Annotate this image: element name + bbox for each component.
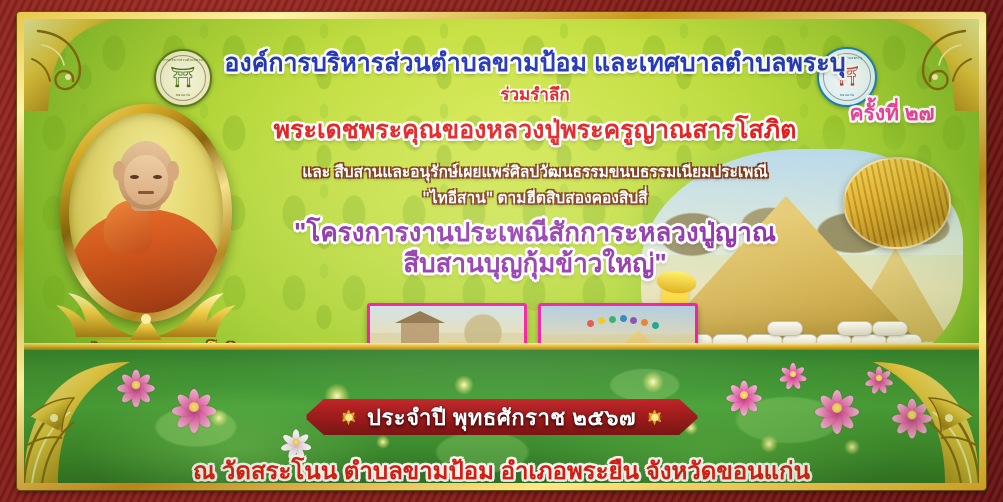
photo-hut	[401, 322, 439, 346]
lotus-flower	[174, 387, 214, 427]
lotus-flower	[892, 395, 932, 435]
commemorate-label: ร่วมรำลึก	[210, 81, 860, 108]
lotus-band-top-rule	[24, 343, 979, 350]
year-banner-text: ประจำปี พุทธศักราช ๒๕๖๗	[367, 400, 636, 435]
honoree-line: พระเดชพระคุณของหลวงปู่พระครูญาณสารโสภิต	[210, 110, 860, 150]
monk-head	[118, 141, 174, 209]
lotus-flower	[119, 368, 153, 402]
gold-corner-ornament-top-left	[24, 19, 120, 111]
venue-line: ณ วัดสระโนน ตำบลขามป้อม อำเภอพระยืน จังห…	[24, 451, 979, 483]
monk-portrait-frame	[60, 104, 232, 322]
ornament-right-icon	[646, 409, 663, 426]
banner-panel: องค์การบริหารส่วนตำบลขามป้อม ⛩ ขอนแก่น เ…	[24, 19, 979, 483]
purpose-line-2: "ไทอีสาน" ตามฮีตสิบสองคองสิบสี่	[210, 185, 860, 210]
event-banner: องค์การบริหารส่วนตำบลขามป้อม ⛩ ขอนแก่น เ…	[0, 0, 1003, 502]
monk-portrait-photo	[69, 113, 223, 313]
ornament-left-icon	[340, 409, 357, 426]
gold-frame: องค์การบริหารส่วนตำบลขามป้อม ⛩ ขอนแก่น เ…	[17, 12, 986, 490]
headline-stack: องค์การบริหารส่วนตำบลขามป้อม และเทศบาลตำ…	[210, 49, 860, 279]
lotus-flower	[782, 363, 803, 384]
lotus-flower	[814, 385, 860, 431]
seal-khampom-sao-icon: องค์การบริหารส่วนตำบลขามป้อม ⛩ ขอนแก่น	[154, 49, 212, 107]
lotus-flower	[728, 379, 760, 411]
year-banner: ประจำปี พุทธศักราช ๒๕๖๗	[304, 397, 699, 437]
monk-face	[124, 155, 168, 205]
purpose-line-1: และ สืบสานและอนุรักษ์เผยแพร่ศิลปวัฒนธรรม…	[210, 159, 860, 184]
project-title-line-1: "โครงการงานประเพณีสักการะหลวงปู่ญาณ	[210, 217, 860, 248]
edition-badge: ครั้งที่ ๒๗	[817, 97, 967, 130]
project-title-line-2: สืบสานบุญกุ้มข้าวใหญ่"	[210, 248, 860, 279]
lotus-flower	[868, 367, 890, 389]
year-banner-wrap: ประจำปี พุทธศักราช ๒๕๖๗	[304, 397, 699, 437]
organizations-line: องค์การบริหารส่วนตำบลขามป้อม และเทศบาลตำ…	[210, 49, 860, 77]
